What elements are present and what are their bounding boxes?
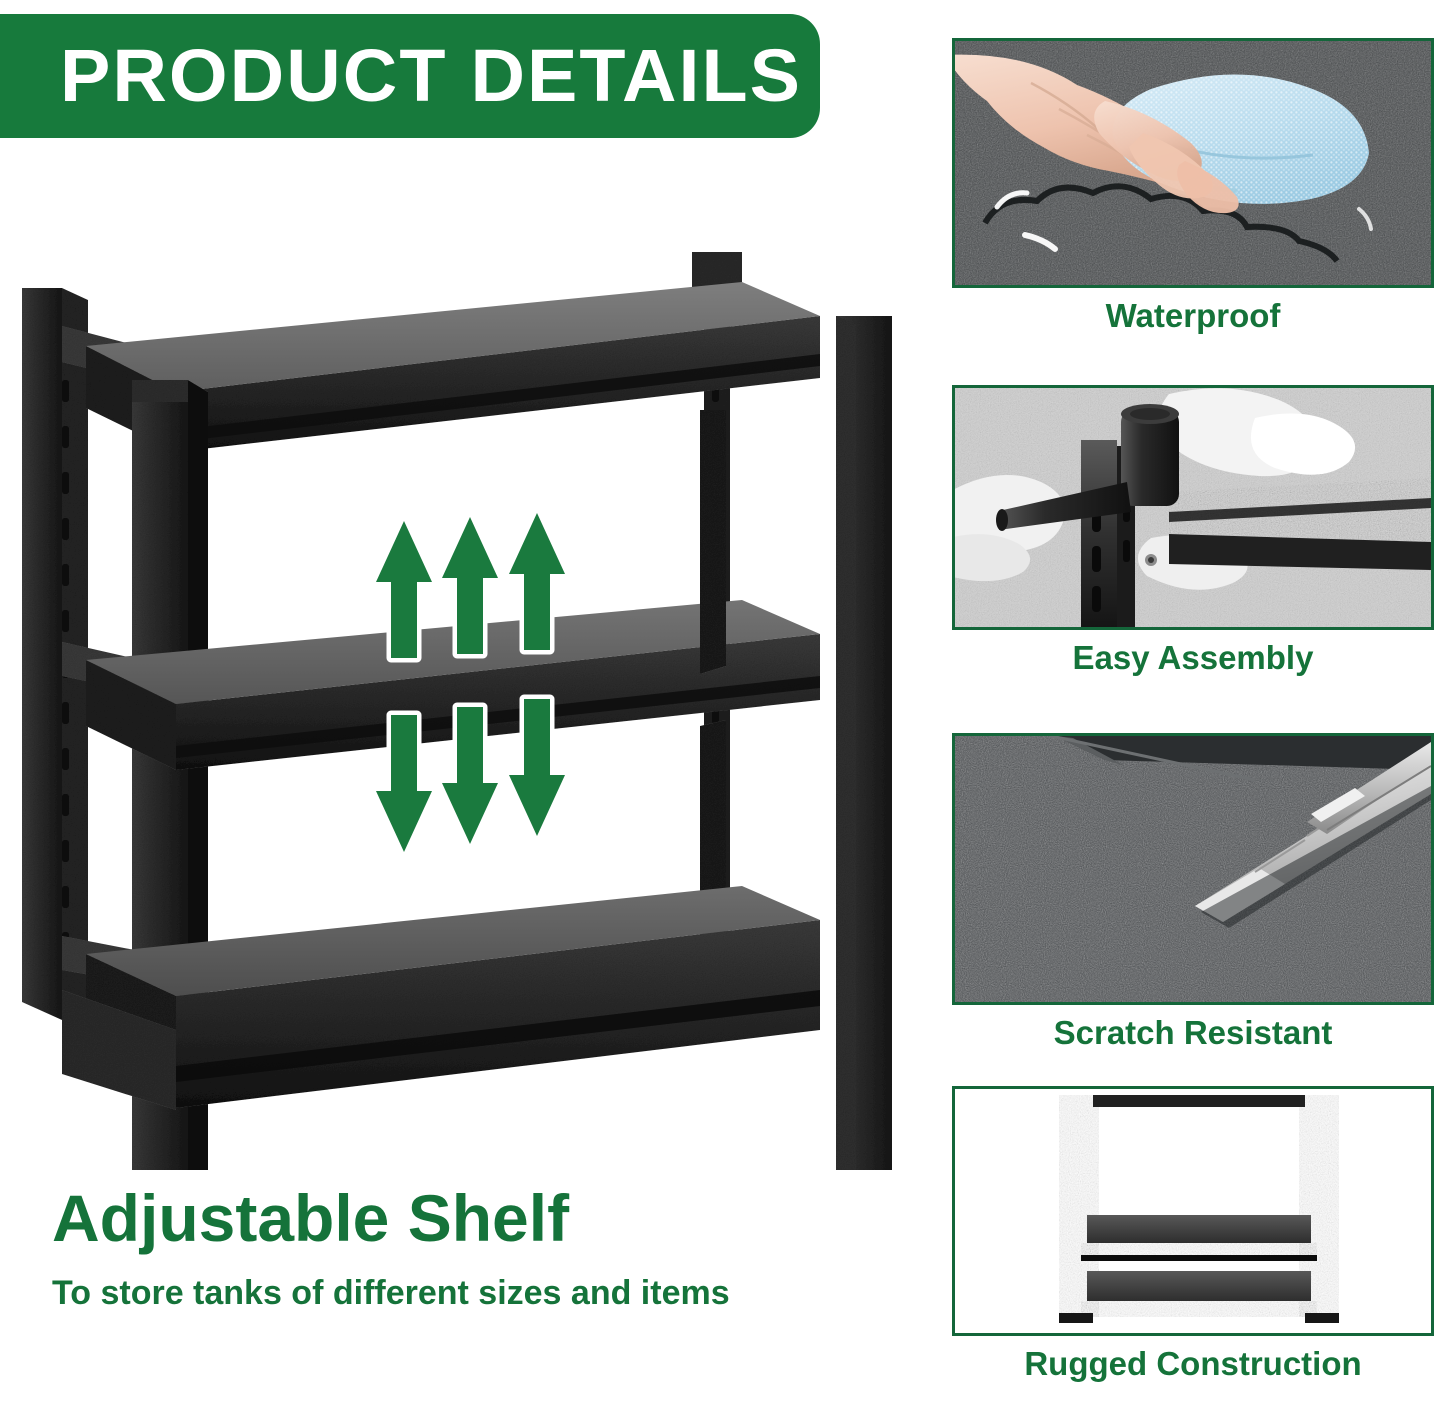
feature-image-scratch-resistant xyxy=(952,733,1434,1005)
adjust-arrows-up xyxy=(376,513,565,658)
shelf-unit-graphic xyxy=(0,230,940,1170)
shelf-post-front-right xyxy=(836,316,892,1170)
adjust-arrows-down xyxy=(376,699,565,852)
feature-label-rugged-construction: Rugged Construction xyxy=(952,1345,1434,1383)
feature-label-scratch-resistant: Scratch Resistant xyxy=(952,1014,1434,1052)
feature-panel-rugged-construction: Rugged Construction xyxy=(952,1086,1434,1383)
feature-panel-scratch-resistant: Scratch Resistant xyxy=(952,733,1434,1052)
feature-panel-waterproof: Waterproof xyxy=(952,38,1434,335)
feature-panel-list: Waterproof xyxy=(952,0,1445,1406)
feature-image-rugged-construction xyxy=(952,1086,1434,1336)
feature-label-easy-assembly: Easy Assembly xyxy=(952,639,1434,677)
feature-label-waterproof: Waterproof xyxy=(952,297,1434,335)
feature-image-easy-assembly xyxy=(952,385,1434,630)
product-details-banner: PRODUCT DETAILS xyxy=(0,14,820,138)
product-illustration xyxy=(0,230,940,1170)
headline-block: Adjustable Shelf To store tanks of diffe… xyxy=(52,1185,932,1313)
page-title: PRODUCT DETAILS xyxy=(60,39,802,113)
feature-panel-easy-assembly: Easy Assembly xyxy=(952,385,1434,677)
feature-image-waterproof xyxy=(952,38,1434,288)
headline-subtitle: To store tanks of different sizes and it… xyxy=(52,1274,932,1313)
headline-title: Adjustable Shelf xyxy=(52,1185,932,1252)
